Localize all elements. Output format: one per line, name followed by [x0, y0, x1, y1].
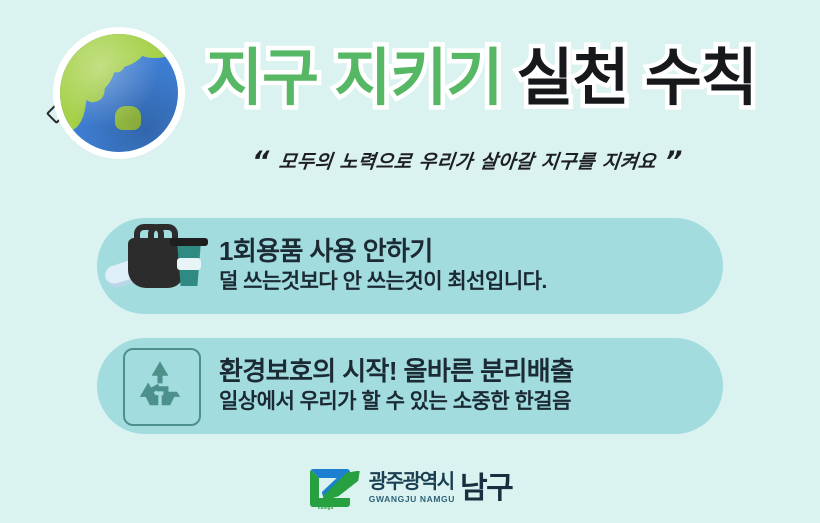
organization-logo: namgu 광주광역시 GWANGJU NAMGU 남구 — [308, 465, 512, 511]
emblem-tagline: namgu — [318, 505, 334, 510]
organization-name: 광주광역시 GWANGJU NAMGU 남구 — [369, 472, 512, 504]
tip-card-subheading: 일상에서 우리가 할 수 있는 소중한 한걸음 — [219, 389, 573, 414]
tip-card-subheading: 덜 쓰는것보다 안 쓰는것이 최선입니다. — [219, 269, 547, 294]
disposable-items-icon — [97, 218, 209, 314]
title-part-green: 지구 지키기 — [206, 48, 502, 110]
organization-name-en: GWANGJU NAMGU — [369, 495, 455, 504]
poster-header: 지구 지키기실천 수칙 “모두의 노력으로 우리가 살아갈 지구를 지켜요” — [0, 0, 820, 200]
tip-card-disposables: 1회용품 사용 안하기 덜 쓰는것보다 안 쓰는것이 최선입니다. — [97, 218, 723, 314]
quote-open-icon: “ — [252, 146, 270, 177]
page-title: 지구 지키기실천 수칙 — [206, 48, 757, 110]
tip-card-text: 환경보호의 시작! 올바른 분리배출 일상에서 우리가 할 수 있는 소중한 한… — [209, 357, 573, 414]
poster-footer: namgu 광주광역시 GWANGJU NAMGU 남구 — [0, 452, 820, 523]
recycle-symbol-icon — [97, 338, 209, 434]
title-part-dark: 실천 수칙 — [516, 48, 756, 110]
tip-card-text: 1회용품 사용 안하기 덜 쓰는것보다 안 쓰는것이 최선입니다. — [209, 237, 547, 294]
tip-card-recycling: 환경보호의 시작! 올바른 분리배출 일상에서 우리가 할 수 있는 소중한 한… — [97, 338, 723, 434]
earth-globe-icon — [60, 34, 178, 152]
globe-illustration — [38, 28, 203, 153]
organization-district: 남구 — [460, 475, 512, 502]
gwangju-namgu-emblem-icon: namgu — [308, 465, 360, 511]
organization-name-kr: 광주광역시 — [369, 472, 455, 492]
poster-canvas: 지구 지키기실천 수칙 “모두의 노력으로 우리가 살아갈 지구를 지켜요” 1… — [0, 0, 820, 523]
subtitle-slogan: “모두의 노력으로 우리가 살아갈 지구를 지켜요” — [250, 146, 684, 177]
tip-card-heading: 환경보호의 시작! 올바른 분리배출 — [219, 357, 573, 386]
quote-close-icon: ” — [665, 146, 683, 177]
tip-card-heading: 1회용품 사용 안하기 — [219, 237, 547, 266]
subtitle-text: 모두의 노력으로 우리가 살아갈 지구를 지켜요 — [278, 151, 658, 173]
